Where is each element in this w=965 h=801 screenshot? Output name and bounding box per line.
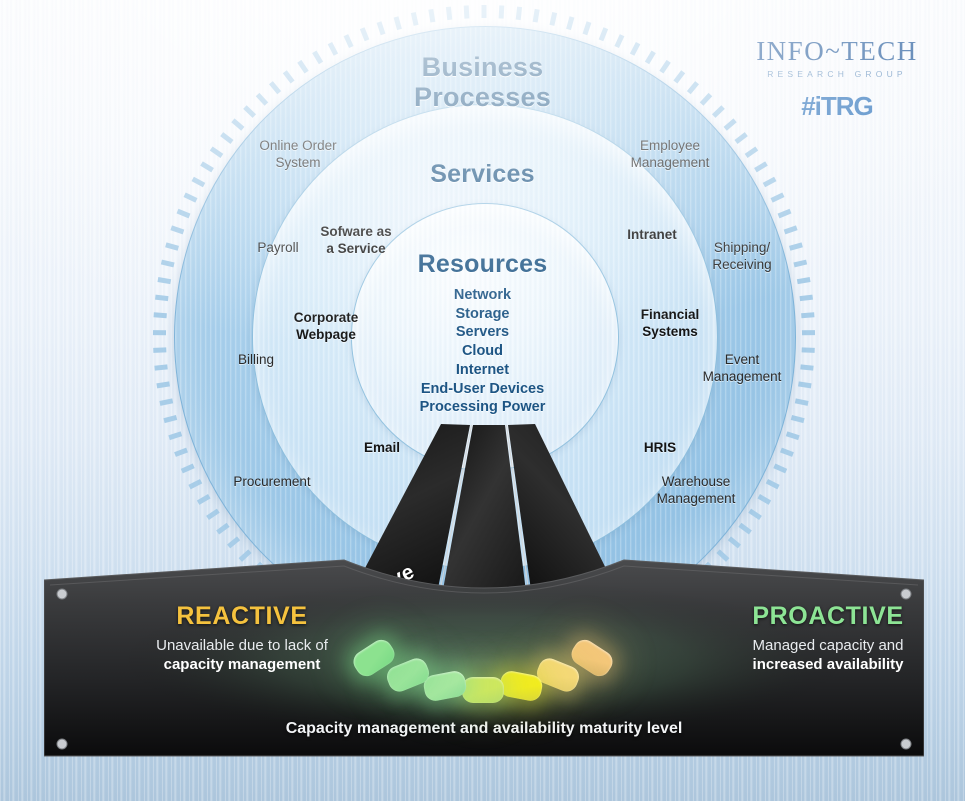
ring-tick xyxy=(396,17,400,30)
ring-tick xyxy=(518,7,519,20)
ring-tick xyxy=(552,13,555,26)
business-process-label: Event Management xyxy=(682,352,802,385)
ring-tick xyxy=(158,280,171,282)
ring-tick xyxy=(166,245,179,249)
ring-tick xyxy=(772,195,784,201)
resource-item: Cloud xyxy=(0,342,965,361)
ring-tick xyxy=(346,35,351,47)
ring-title-line: Business xyxy=(0,52,965,82)
ring-tick xyxy=(211,149,222,156)
ring-tick xyxy=(178,211,190,216)
reactive-line1: Unavailable due to lack of xyxy=(106,636,378,655)
screw-icon xyxy=(57,589,67,599)
ring-tick xyxy=(379,22,383,34)
ring-tick xyxy=(466,6,467,19)
infographic-canvas: INFO~TECH RESEARCH GROUP #iTRG BusinessP… xyxy=(0,0,965,801)
ring-title-line: Processes xyxy=(0,82,965,112)
ring-tick xyxy=(601,28,606,40)
ring-tick xyxy=(413,13,416,26)
ring-tick xyxy=(569,17,573,30)
ring-tick xyxy=(198,496,209,503)
reactive-kicker: REACTIVE xyxy=(106,602,378,631)
ring-tick xyxy=(171,228,183,232)
ring-tick xyxy=(787,434,799,438)
ring-tick xyxy=(750,511,761,518)
resource-item: Network xyxy=(0,286,965,305)
ring-tick xyxy=(182,466,194,471)
reactive-line2: capacity management xyxy=(106,655,378,674)
ring-tick xyxy=(222,134,232,142)
ring-tick xyxy=(431,9,433,22)
proactive-line2: increased availability xyxy=(692,655,964,674)
screw-icon xyxy=(901,589,911,599)
business-process-label: Warehouse Management xyxy=(636,474,756,507)
ring-tick xyxy=(740,525,751,533)
resource-item: Internet xyxy=(0,361,965,380)
business-process-label: Shipping/ Receiving xyxy=(682,240,802,273)
resource-item: Servers xyxy=(0,323,965,342)
business-process-label: Procurement xyxy=(212,474,332,491)
ring-tick xyxy=(175,450,187,455)
business-process-label: Billing xyxy=(196,352,316,369)
ring-tick xyxy=(781,450,793,455)
ring-tick xyxy=(617,35,622,47)
business-process-label: Online Order System xyxy=(238,138,358,171)
service-label: Email xyxy=(322,440,442,457)
resource-item: End-User Devices xyxy=(0,380,965,399)
resources-list: NetworkStorageServersCloudInternetEnd-Us… xyxy=(0,286,965,417)
maturity-console: REACTIVE Unavailable due to lack of capa… xyxy=(44,556,924,771)
screw-icon xyxy=(57,739,67,749)
proactive-block: PROACTIVE Managed capacity and increased… xyxy=(692,602,964,674)
ring-tick xyxy=(725,120,735,129)
ring-tick xyxy=(218,525,229,533)
ring-tick xyxy=(774,466,786,471)
ring-tick xyxy=(233,120,243,129)
service-label: HRIS xyxy=(600,440,720,457)
ring-tick xyxy=(229,538,239,546)
ring-tick xyxy=(169,434,181,438)
ring-tick xyxy=(759,496,770,503)
proactive-kicker: PROACTIVE xyxy=(692,602,964,631)
ring-title-resources: Resources xyxy=(0,250,965,279)
ring-tick xyxy=(736,134,746,142)
ring-tick xyxy=(785,228,797,232)
reactive-block: REACTIVE Unavailable due to lack of capa… xyxy=(106,602,378,674)
ring-tick xyxy=(185,195,197,201)
ring-title-business-processes: BusinessProcesses xyxy=(0,52,965,112)
ring-tick xyxy=(535,9,537,22)
proactive-line1: Managed capacity and xyxy=(692,636,964,655)
ring-tick xyxy=(164,417,177,420)
ring-tick xyxy=(767,481,779,487)
ring-tick xyxy=(448,7,449,20)
ring-tick xyxy=(729,538,739,546)
service-label: Intranet xyxy=(592,227,712,244)
ring-tick xyxy=(362,28,367,40)
screw-icon xyxy=(901,739,911,749)
ring-tick xyxy=(190,481,202,487)
business-process-label: Employee Management xyxy=(610,138,730,171)
console-caption: Capacity management and availability mat… xyxy=(44,720,924,738)
resource-item: Processing Power xyxy=(0,398,965,417)
service-label: Financial Systems xyxy=(610,307,730,340)
ring-tick xyxy=(746,149,757,156)
ring-tick xyxy=(208,511,219,518)
resource-item: Storage xyxy=(0,305,965,324)
ring-tick xyxy=(501,6,502,19)
ring-tick xyxy=(585,22,589,34)
ring-tick xyxy=(797,280,810,282)
service-label: Sofware as a Service xyxy=(296,224,416,257)
ring-tick xyxy=(791,417,804,420)
service-label: Corporate Webpage xyxy=(266,310,386,343)
ring-tick xyxy=(779,211,791,216)
ring-title-services: Services xyxy=(0,160,965,189)
